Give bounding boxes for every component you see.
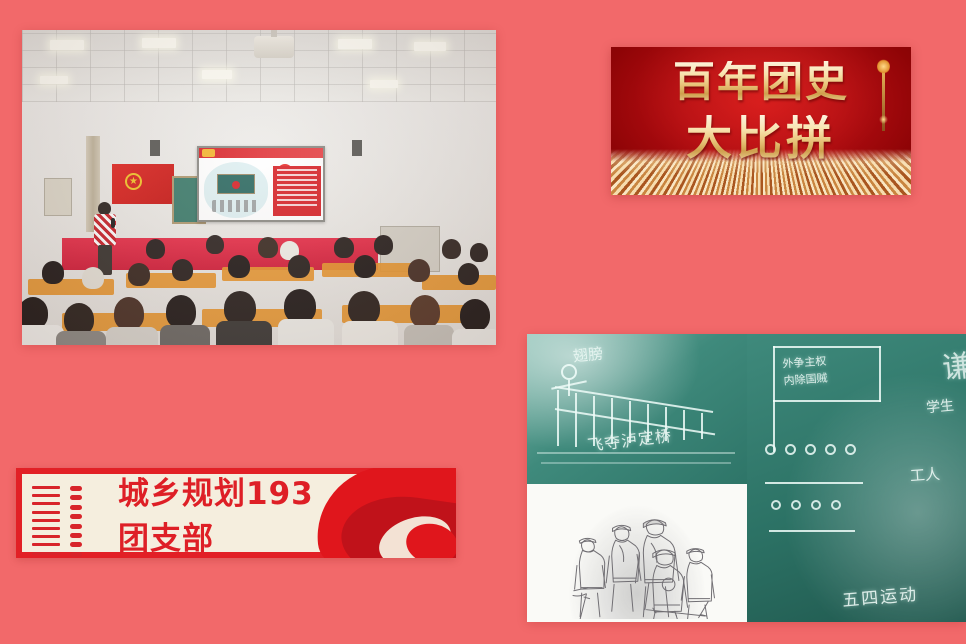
audience-seating [22, 233, 496, 345]
youth-league-star-icon: ★ [125, 173, 142, 190]
ceiling-light [414, 42, 446, 51]
may-fourth-panel: 外争主权 内除国贼 学生 工人 五四运动 谦 [747, 334, 966, 622]
banner-title-line1: 百年团史 [611, 61, 911, 103]
slide-header-bar [199, 148, 323, 158]
slide-illustration-audience [212, 200, 260, 212]
binding-dots-icon [70, 486, 82, 540]
organization-name-banner[interactable]: 城乡规划193团支部 [16, 468, 456, 558]
chalk-text-workers: 工人 [909, 463, 940, 486]
soldiers-sketch-icon [558, 492, 716, 619]
notebook-binding-icon [32, 486, 60, 540]
ceiling-light [370, 80, 398, 88]
chalk-text-flag-slogan: 外争主权 内除国贼 [781, 353, 827, 390]
projection-screen-icon [197, 146, 325, 222]
wall-control-box [44, 178, 72, 216]
projector-icon [254, 36, 294, 58]
name-banner-inner: 城乡规划193团支部 [22, 474, 450, 552]
chalk-slogan-line2: 内除国贼 [783, 372, 828, 388]
chalk-text-partial-character: 谦 [940, 341, 966, 388]
ceiling-light [50, 40, 84, 50]
ceiling-light [40, 76, 68, 84]
slide-canvas: ★ [0, 0, 966, 644]
communist-youth-league-flag-icon: ★ [112, 164, 174, 204]
slide-text-panel [273, 166, 321, 216]
soldiers-sketch-panel [527, 484, 747, 622]
ceiling-light [142, 38, 176, 48]
chalk-slogan-line1: 外争主权 [782, 355, 827, 371]
bai-nian-tuan-shi-banner[interactable]: 百年团史 大比拼 [611, 47, 911, 195]
chalkboard-drawing-composite[interactable]: 翅膀 飞夺泸定桥 外争主权 内除国贼 学生 工人 [527, 334, 966, 622]
chalk-text-students: 学生 [925, 395, 955, 417]
slide-badge-icon [202, 149, 215, 157]
banner-title-block: 百年团史 大比拼 [611, 61, 911, 161]
ceiling-light [338, 39, 372, 49]
chalk-text-may-fourth-movement: 五四运动 [841, 580, 919, 612]
chalk-text-luding-bridge: 飞夺泸定桥 [586, 422, 673, 456]
luding-bridge-panel: 翅膀 飞夺泸定桥 [527, 334, 747, 484]
classroom-lecture-photo[interactable]: ★ [22, 30, 496, 345]
banner-title-line2: 大比拼 [611, 115, 911, 161]
slide-illustration-emblem [232, 181, 240, 189]
wall-speaker-icon [352, 140, 362, 156]
ceiling-light [202, 70, 232, 79]
wall-speaker-icon [150, 140, 160, 156]
chalk-text-wings: 翅膀 [572, 342, 604, 366]
red-silk-ribbon-icon [306, 468, 456, 558]
